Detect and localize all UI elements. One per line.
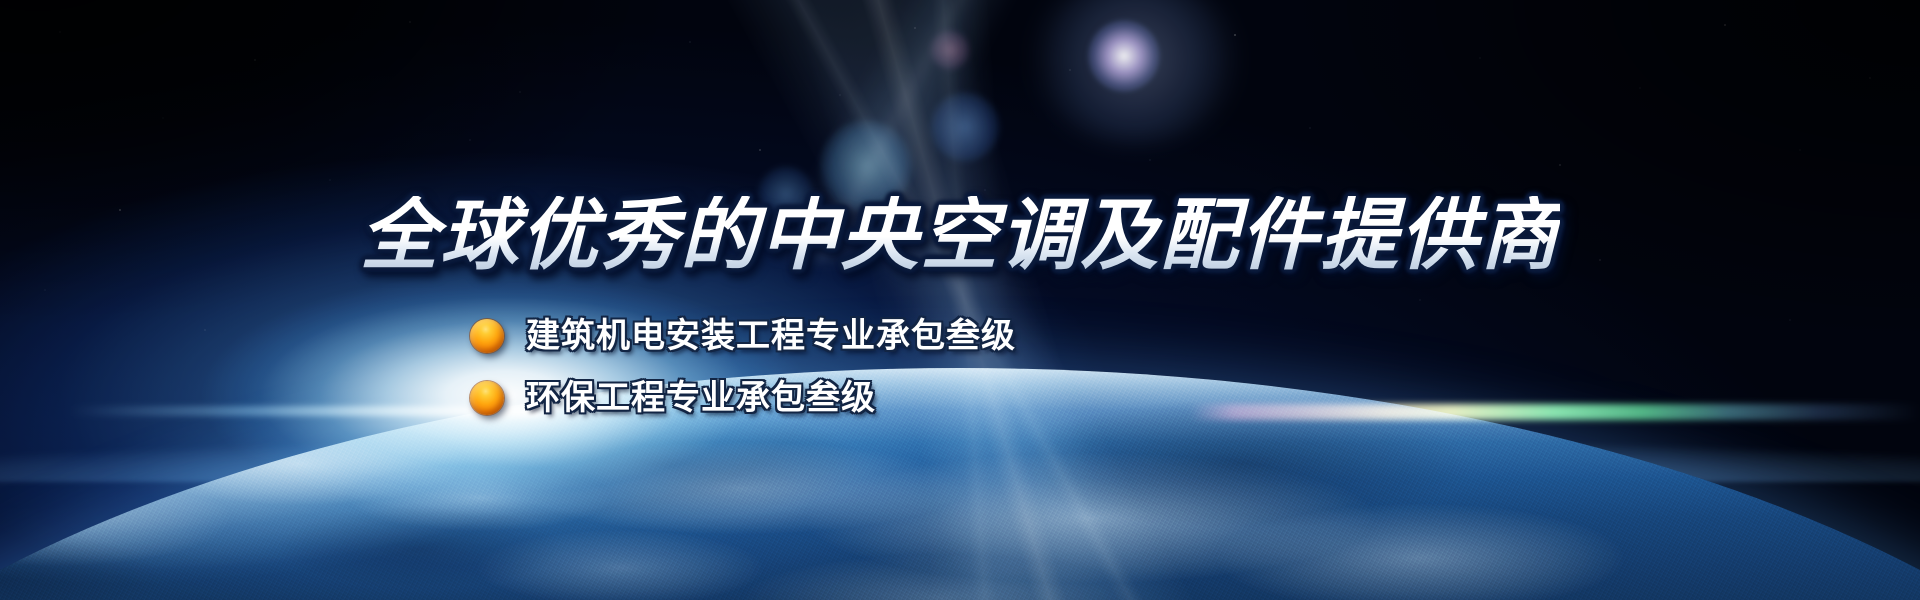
- orange-sphere-bullet-icon: [470, 381, 504, 415]
- list-item: 建筑机电安装工程专业承包叁级: [470, 308, 1016, 364]
- qualification-list: 建筑机电安装工程专业承包叁级 环保工程专业承包叁级: [470, 308, 1016, 432]
- hero-banner[interactable]: 全球优秀的中央空调及配件提供商 建筑机电安装工程专业承包叁级 环保工程专业承包叁…: [0, 0, 1920, 600]
- banner-headline: 全球优秀的中央空调及配件提供商: [360, 196, 1560, 274]
- qualification-label: 环保工程专业承包叁级: [526, 381, 876, 415]
- banner-content: 全球优秀的中央空调及配件提供商 建筑机电安装工程专业承包叁级 环保工程专业承包叁…: [0, 0, 1920, 600]
- qualification-label: 建筑机电安装工程专业承包叁级: [526, 319, 1016, 353]
- list-item: 环保工程专业承包叁级: [470, 370, 1016, 426]
- orange-sphere-bullet-icon: [470, 319, 504, 353]
